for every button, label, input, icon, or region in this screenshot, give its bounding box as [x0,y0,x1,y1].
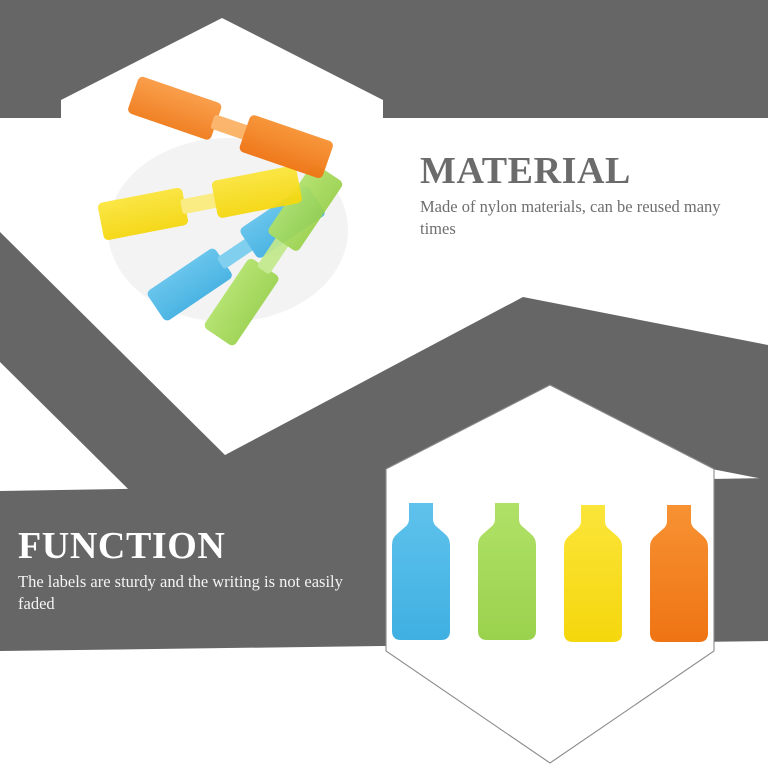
function-description: The labels are sturdy and the writing is… [18,571,378,615]
function-text-block: FUNCTION The labels are sturdy and the w… [18,527,378,615]
product-photo-layer [0,0,768,768]
material-description: Made of nylon materials, can be reused m… [420,196,750,240]
photo-cable-tags-fanned [61,18,383,385]
material-text-block: MATERIAL Made of nylon materials, can be… [420,152,750,240]
material-heading: MATERIAL [420,152,750,191]
function-heading: FUNCTION [18,527,378,566]
infographic-canvas: MATERIAL Made of nylon materials, can be… [0,0,768,768]
photo-bottle-tags-row [386,385,714,763]
